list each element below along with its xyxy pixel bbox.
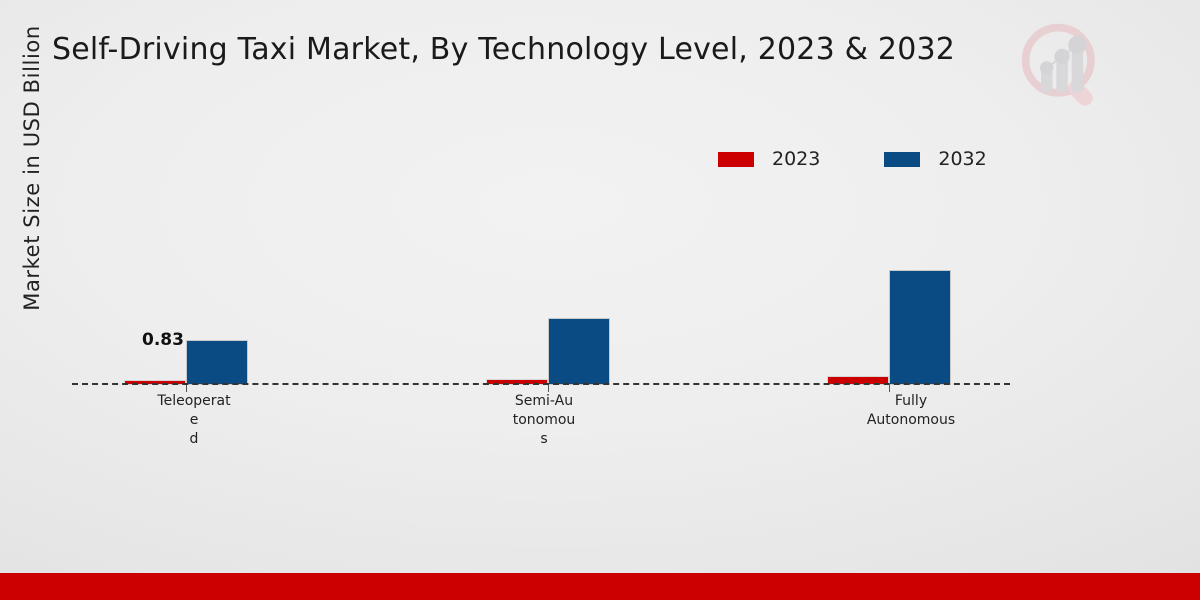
category-label-fully-autonomous: Fully Autonomous xyxy=(851,392,971,430)
category-label-teleoperated: Teleoperate d xyxy=(156,392,232,449)
category-label-line: s xyxy=(506,430,582,449)
category-label-line: Semi-Au xyxy=(506,392,582,411)
bar-fully-autonomous-2032[interactable] xyxy=(889,270,951,385)
bar-group-fully-autonomous xyxy=(827,170,951,385)
axis-tick-1 xyxy=(186,385,187,392)
category-label-line: tonomou xyxy=(506,411,582,430)
y-axis-title: Market Size in USD Billion xyxy=(20,0,44,368)
legend-item-2023[interactable]: 2023 xyxy=(718,148,820,170)
legend-item-2032[interactable]: 2032 xyxy=(884,148,986,170)
legend-swatch-2023 xyxy=(718,152,754,167)
chart-legend: 2023 2032 xyxy=(718,148,987,170)
page-title: Self-Driving Taxi Market, By Technology … xyxy=(52,32,952,67)
category-label-semi-autonomous: Semi-Au tonomou s xyxy=(506,392,582,449)
category-label-line: Teleoperate xyxy=(156,392,232,430)
category-label-line: Autonomous xyxy=(851,411,971,430)
bar-semi-autonomous-2032[interactable] xyxy=(548,318,610,385)
axis-tick-2 xyxy=(548,385,549,392)
bar-teleoperated-2032[interactable] xyxy=(186,340,248,385)
bar-group-teleoperated xyxy=(124,170,248,385)
axis-tick-3 xyxy=(889,385,890,392)
watermark-logo-icon xyxy=(1016,18,1112,114)
legend-label-2032: 2032 xyxy=(938,148,986,170)
axis-baseline xyxy=(72,383,1010,385)
category-label-line: d xyxy=(156,430,232,449)
legend-label-2023: 2023 xyxy=(772,148,820,170)
data-label-teleoperated-2023: 0.83 xyxy=(142,330,184,350)
legend-swatch-2032 xyxy=(884,152,920,167)
footer-accent-bar xyxy=(0,573,1200,600)
infographic-root: Self-Driving Taxi Market, By Technology … xyxy=(0,0,1200,600)
bar-group-semi-autonomous xyxy=(486,170,610,385)
plot-area: 0.83 xyxy=(72,170,1010,385)
category-label-line: Fully xyxy=(851,392,971,411)
